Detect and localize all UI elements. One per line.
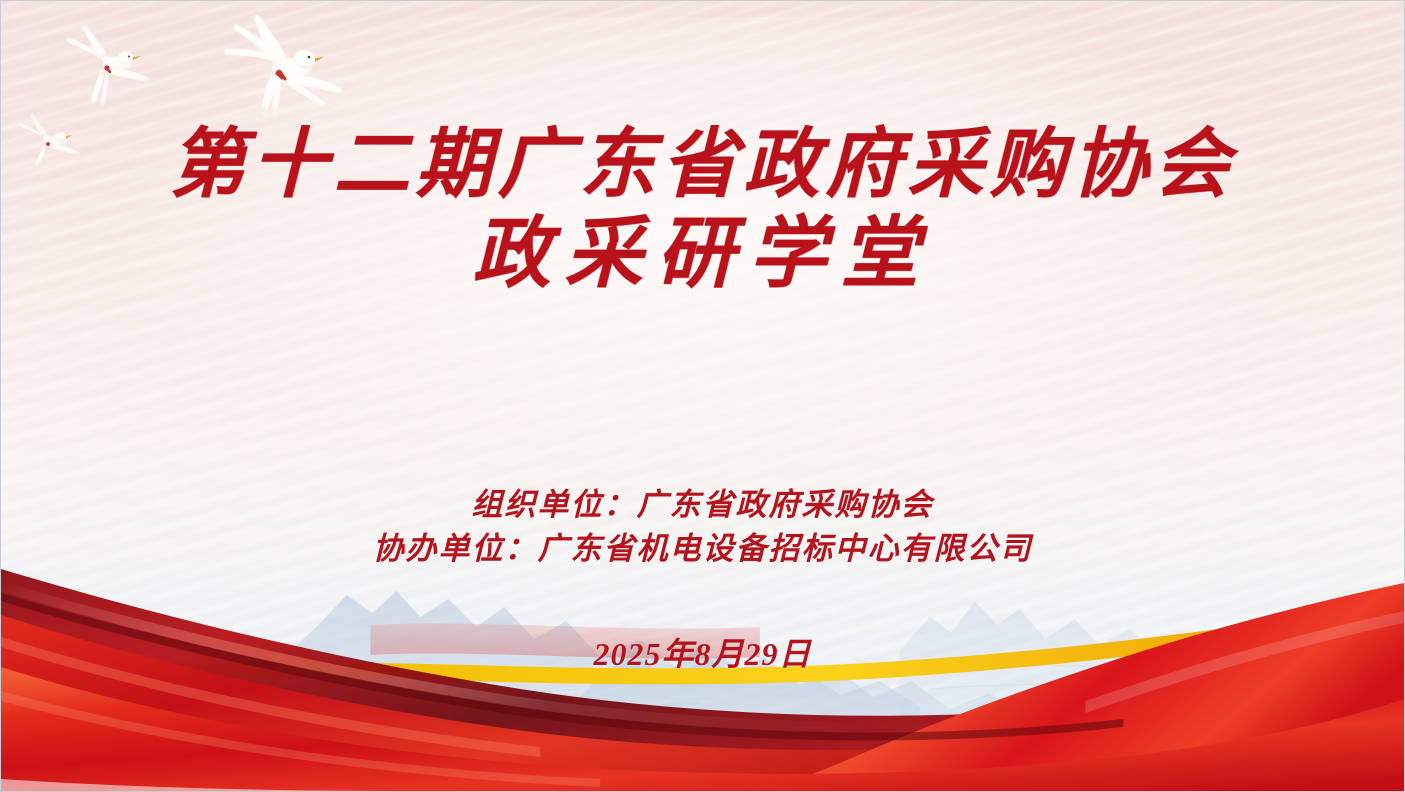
organizer-line: 组织单位：广东省政府采购协会 <box>1 483 1404 527</box>
title-line-1: 第十二期广东省政府采购协会 <box>1 121 1404 209</box>
event-date: 2025年8月29日 <box>1 629 1404 675</box>
title-slide: 第十二期广东省政府采购协会 政采研学堂 组织单位：广东省政府采购协会 协办单位：… <box>0 0 1405 792</box>
date-block: 2025年8月29日 <box>1 629 1404 675</box>
dove-medium-icon <box>59 23 155 109</box>
dove-large-icon <box>197 13 345 125</box>
co-organizer-line: 协办单位：广东省机电设备招标中心有限公司 <box>1 527 1404 571</box>
title-line-2: 政采研学堂 <box>1 209 1404 299</box>
credits-block: 组织单位：广东省政府采购协会 协办单位：广东省机电设备招标中心有限公司 <box>1 483 1404 571</box>
title-block: 第十二期广东省政府采购协会 政采研学堂 <box>1 121 1404 300</box>
